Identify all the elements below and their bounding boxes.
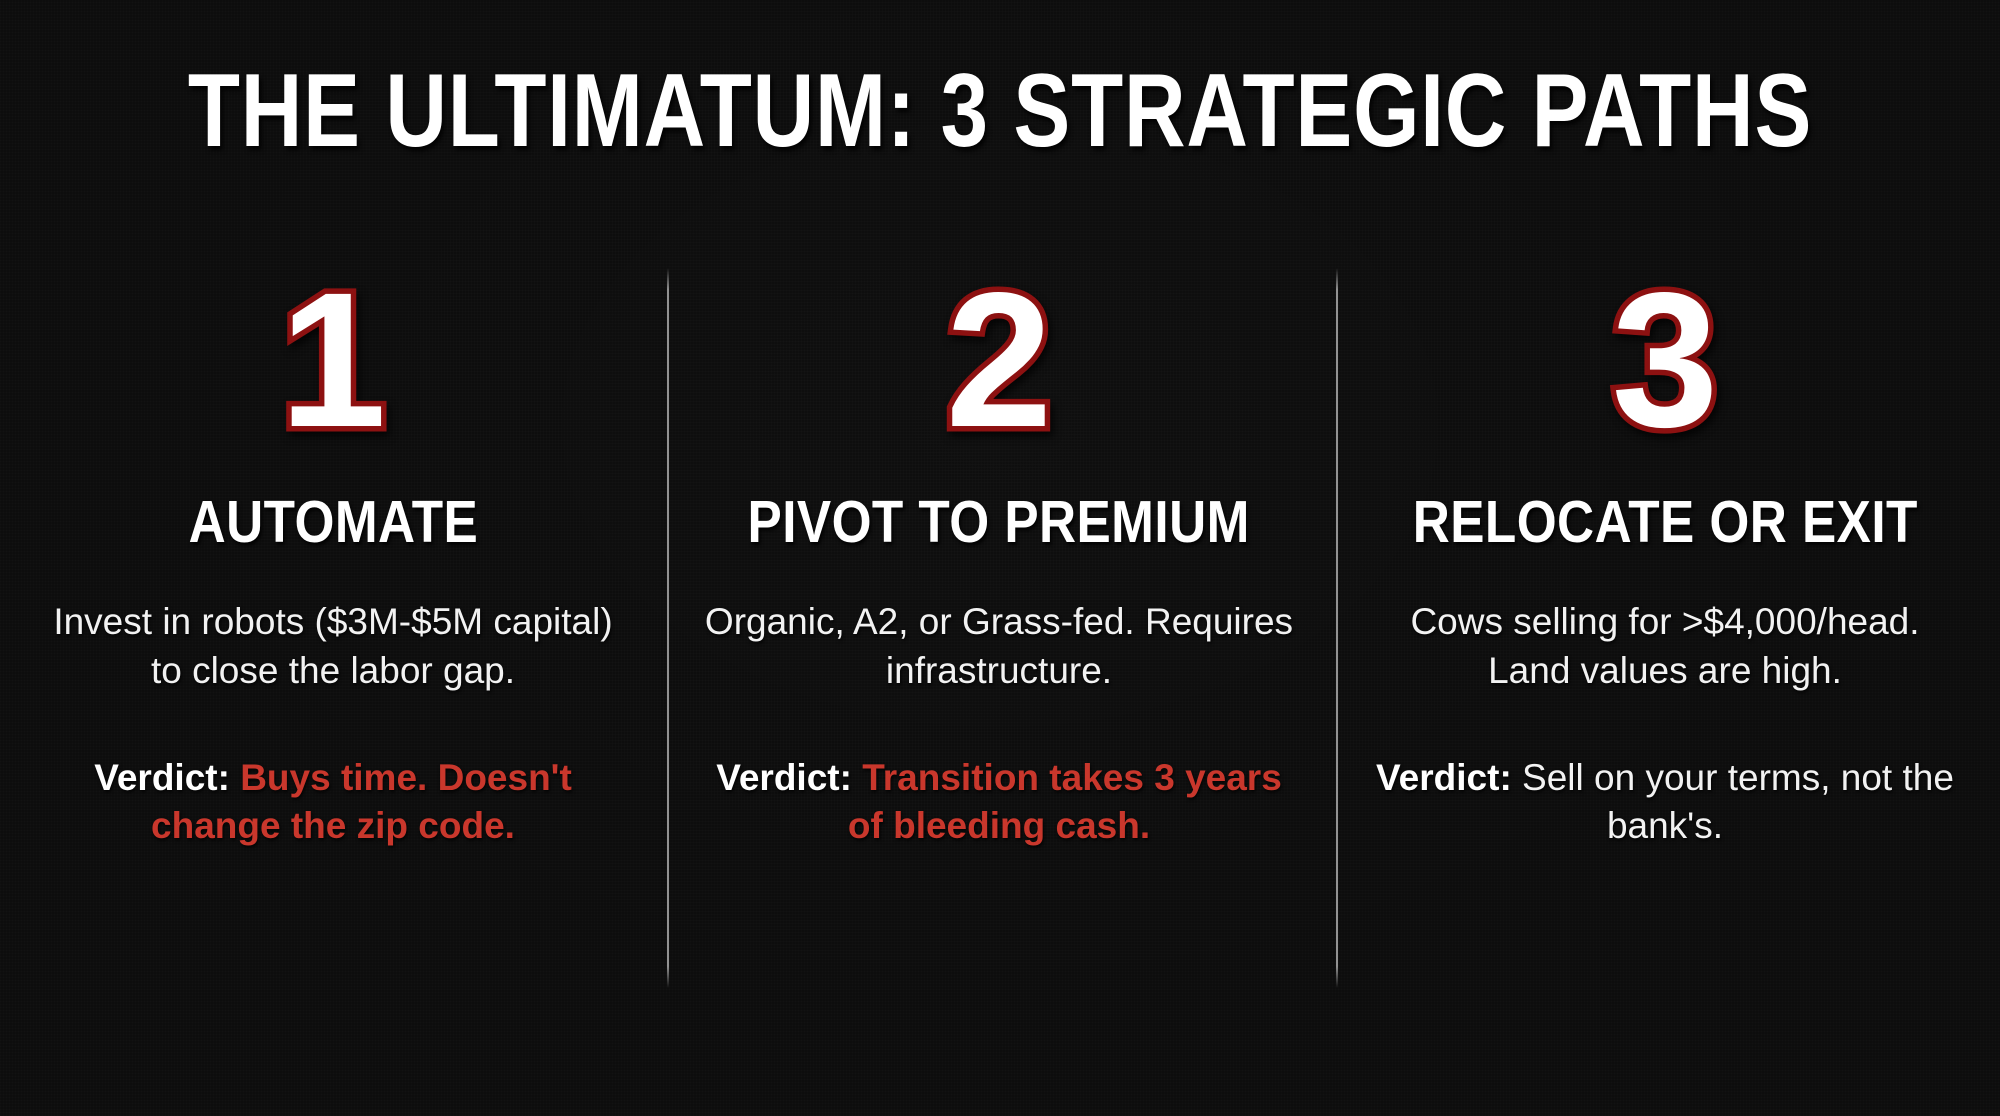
path-heading-1: AUTOMATE xyxy=(188,492,478,554)
path-number-2: 2 xyxy=(946,262,1053,458)
path-verdict-3: Verdict: Sell on your terms, not the ban… xyxy=(1366,754,1964,852)
strategic-paths-columns: 1 AUTOMATE Invest in robots ($3M-$5M cap… xyxy=(0,262,2000,1002)
path-heading-2: PIVOT TO PREMIUM xyxy=(748,492,1250,554)
verdict-text-3: Sell on your terms, not the bank's. xyxy=(1522,757,1954,847)
path-verdict-1: Verdict: Buys time. Doesn't change the z… xyxy=(34,754,632,852)
path-heading-3: RELOCATE OR EXIT xyxy=(1412,492,1917,554)
path-column-1: 1 AUTOMATE Invest in robots ($3M-$5M cap… xyxy=(0,262,666,851)
path-column-2: 2 PIVOT TO PREMIUM Organic, A2, or Grass… xyxy=(666,262,1332,851)
verdict-label-1: Verdict: xyxy=(94,757,230,798)
path-body-1: Invest in robots ($3M-$5M capital) to cl… xyxy=(34,598,632,696)
path-body-3: Cows selling for >$4,000/head. Land valu… xyxy=(1366,598,1964,696)
path-number-3: 3 xyxy=(1612,262,1719,458)
path-verdict-2: Verdict: Transition takes 3 years of ble… xyxy=(700,754,1298,852)
verdict-label-2: Verdict: xyxy=(716,757,852,798)
path-body-2: Organic, A2, or Grass-fed. Requires infr… xyxy=(700,598,1298,696)
verdict-text-2: Transition takes 3 years of bleeding cas… xyxy=(848,757,1282,847)
page-title: THE ULTIMATUM: 3 STRATEGIC PATHS xyxy=(180,55,1820,167)
path-column-3: 3 RELOCATE OR EXIT Cows selling for >$4,… xyxy=(1332,262,1998,851)
verdict-label-3: Verdict: xyxy=(1376,757,1512,798)
path-number-1: 1 xyxy=(280,262,387,458)
slide-canvas: THE ULTIMATUM: 3 STRATEGIC PATHS 1 AUTOM… xyxy=(0,0,2000,1116)
